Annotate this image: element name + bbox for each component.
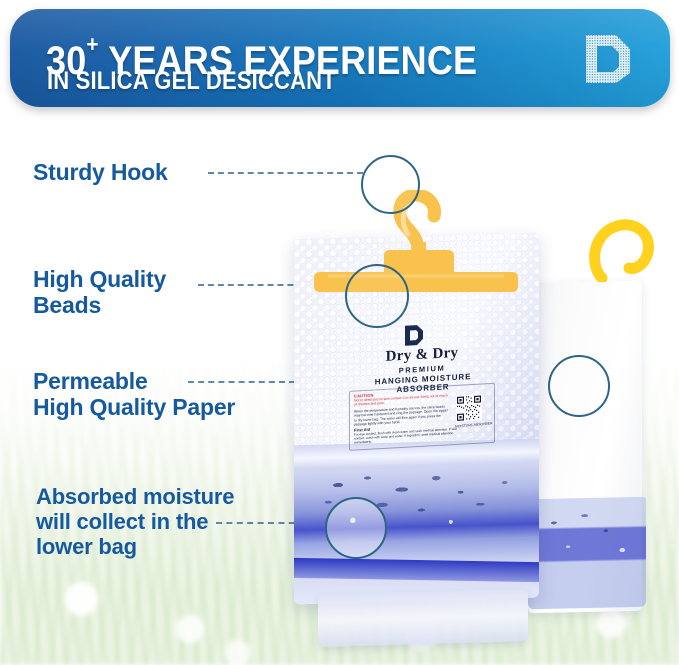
infographic-canvas: 30+ YEARS EXPERIENCE IN SILICA GEL DESIC… <box>0 0 679 665</box>
package-printed-label: Dry & Dry PREMIUM HANGING MOISTURE ABSOR… <box>346 320 496 450</box>
package-instructions: When the temperature and humidity are lo… <box>354 404 450 427</box>
callout-label-high-quality-beads: High Quality Beads <box>33 266 166 318</box>
callout-ring-beads <box>345 264 409 328</box>
qr-code-icon <box>456 394 482 421</box>
brand-d-logo-icon <box>580 31 636 87</box>
package-side-text: MOISTURE ABSORBER <box>454 421 492 428</box>
package-label-d-icon <box>404 324 424 347</box>
leader-line-sturdy-hook <box>208 172 363 174</box>
collected-water-line <box>294 558 539 582</box>
callout-ring-absorbed-moisture <box>325 497 387 559</box>
sturdy-hook-icon <box>298 190 538 300</box>
package-info-box: CAUTION Not to direct put on skin contac… <box>349 383 495 451</box>
package-first-aid-body: For eye contact, flush with clean water … <box>354 426 464 444</box>
secondary-hook-icon <box>588 218 658 282</box>
banner-title-plus: + <box>86 31 98 57</box>
callout-label-permeable-paper: Permeable High Quality Paper <box>33 368 235 420</box>
callout-label-sturdy-hook: Sturdy Hook <box>33 159 168 185</box>
secondary-bag-collected-liquid <box>528 497 646 609</box>
banner-subtitle: IN SILICA GEL DESICCANT <box>47 67 336 95</box>
callout-ring-sturdy-hook <box>361 155 420 214</box>
callout-label-absorbed-moisture: Absorbed moisture will collect in the lo… <box>36 484 234 559</box>
bag-bottom-gusset <box>318 589 528 647</box>
callout-ring-permeable-paper <box>548 355 610 417</box>
product-photo: Dry & Dry PREMIUM HANGING MOISTURE ABSOR… <box>288 190 679 640</box>
header-banner: 30+ YEARS EXPERIENCE IN SILICA GEL DESIC… <box>10 9 670 107</box>
